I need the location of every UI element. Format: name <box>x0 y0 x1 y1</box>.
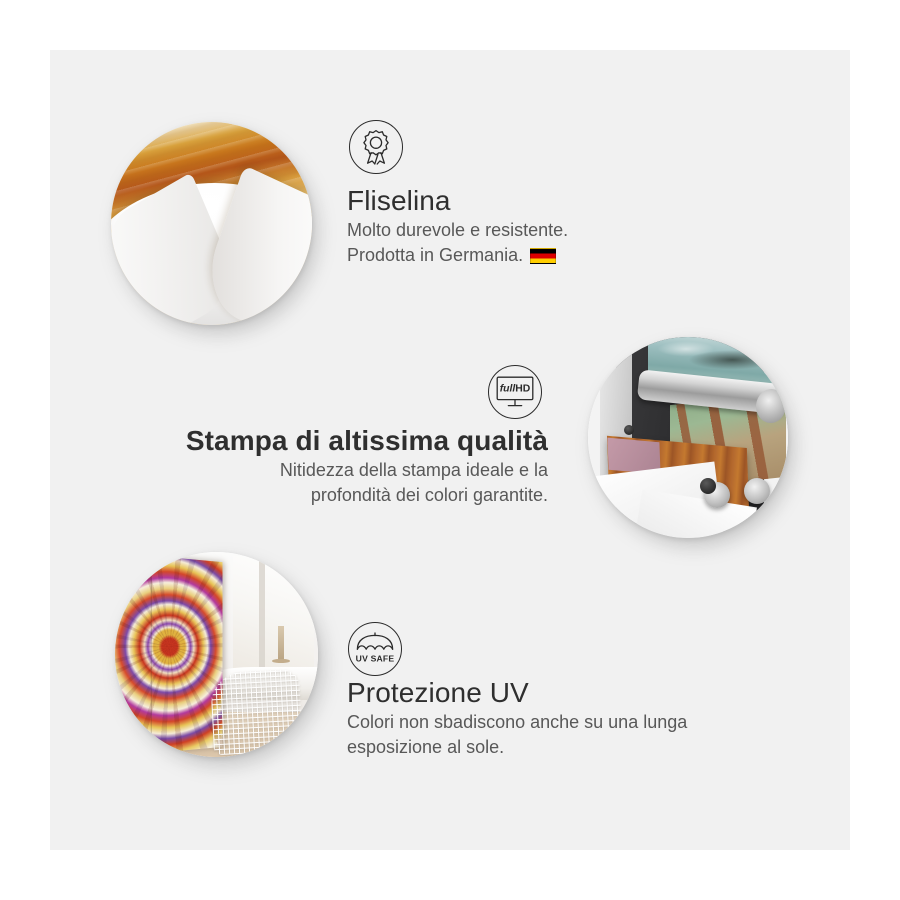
quality-body-line-2: profondità dei colori garantite. <box>148 483 548 508</box>
german-flag-icon <box>530 248 556 264</box>
infographic-canvas: fullHD UV SAFE Fliselina Molto durevole … <box>0 0 900 900</box>
wire-chair <box>210 669 303 756</box>
quality-body-line-1: Nitidezza della stampa ideale e la <box>148 458 548 483</box>
uv-body-line-1: Colori non sbadiscono anche su una lunga <box>347 710 687 735</box>
uv-heading: Protezione UV <box>347 676 687 710</box>
mandala-wallpaper <box>115 552 222 757</box>
fliselina-body-line-1: Molto durevole e resistente. <box>347 218 568 243</box>
fullhd-monitor-icon: fullHD <box>488 365 542 419</box>
fliselina-heading: Fliselina <box>347 184 568 218</box>
printer-wheel-right <box>744 478 770 504</box>
svg-text:fullHD: fullHD <box>500 383 531 394</box>
wallpaper-roll-photo <box>111 122 312 325</box>
wallpaper-seam <box>150 556 152 754</box>
candle-holder <box>278 626 283 661</box>
printing-machine-photo <box>588 337 788 538</box>
fliselina-text-block: Fliselina Molto durevole e resistente. P… <box>347 184 568 268</box>
printer-knob-large <box>700 478 716 494</box>
svg-text:UV SAFE: UV SAFE <box>356 654 395 664</box>
room-window-frame <box>259 560 265 679</box>
quality-text-block: Stampa di altissima qualità Nitidezza de… <box>148 424 548 508</box>
award-rosette-icon <box>349 120 403 174</box>
uv-text-block: Protezione UV Colori non sbadiscono anch… <box>347 676 687 760</box>
quality-heading: Stampa di altissima qualità <box>148 424 548 458</box>
fliselina-body-line-2-row: Prodotta in Germania. <box>347 243 568 268</box>
room-window <box>233 556 314 683</box>
mandala-room-photo <box>115 552 318 757</box>
fliselina-body-line-2: Prodotta in Germania. <box>347 243 523 268</box>
uv-safe-umbrella-icon: UV SAFE <box>348 622 402 676</box>
uv-body-line-2: esposizione al sole. <box>347 735 687 760</box>
